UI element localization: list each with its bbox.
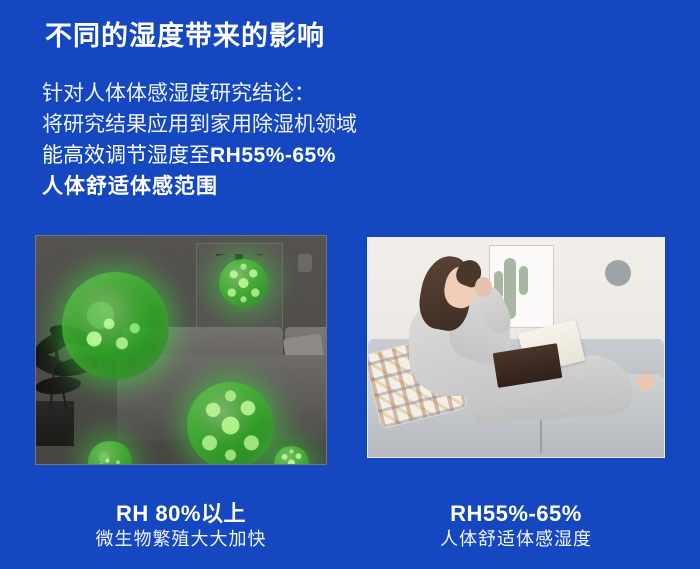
plant-leaf [35,375,82,397]
body-line-4: 人体舒适体感范围 [42,171,357,202]
dark-room-scene [36,236,326,464]
microbe-orb-large [62,272,169,379]
wall-switch-icon [298,254,312,272]
microbe-orb-bottom [187,382,274,465]
body-line-3: 能高效调节湿度至RH55%-65% [42,140,357,171]
caption-left-sub: 微生物繁殖大大加快 [35,527,327,552]
plant-pot [35,401,73,446]
bright-room-scene [368,238,664,457]
cactus-arm-right [519,266,528,294]
caption-left: RH 80%以上 微生物繁殖大大加快 [35,500,327,552]
poster-root: 不同的湿度带来的影响 针对人体体感湿度研究结论： 将研究结果应用到家用除湿机领域… [0,0,700,569]
photo-left-high-humidity [35,235,327,465]
wall-speaker-icon [605,260,631,286]
photo-right-comfort-humidity [367,237,665,458]
caption-right-sub: 人体舒适体感湿度 [367,527,665,552]
caption-right-main: RH55%-65% [367,500,665,527]
microbe-orb-top [219,259,268,307]
caption-left-main: RH 80%以上 [35,500,327,527]
microbe-orb-edge [274,446,309,465]
body-line-1: 针对人体体感湿度研究结论： [42,78,357,109]
humidity-range-highlight: RH55%-65% [210,144,336,167]
caption-right: RH55%-65% 人体舒适体感湿度 [367,500,665,552]
body-paragraph: 针对人体体感湿度研究结论： 将研究结果应用到家用除湿机领域 能高效调节湿度至RH… [42,78,357,202]
body-line-3-prefix: 能高效调节湿度至 [42,144,210,167]
body-line-2: 将研究结果应用到家用除湿机领域 [42,109,357,140]
page-title: 不同的湿度带来的影响 [45,20,325,52]
